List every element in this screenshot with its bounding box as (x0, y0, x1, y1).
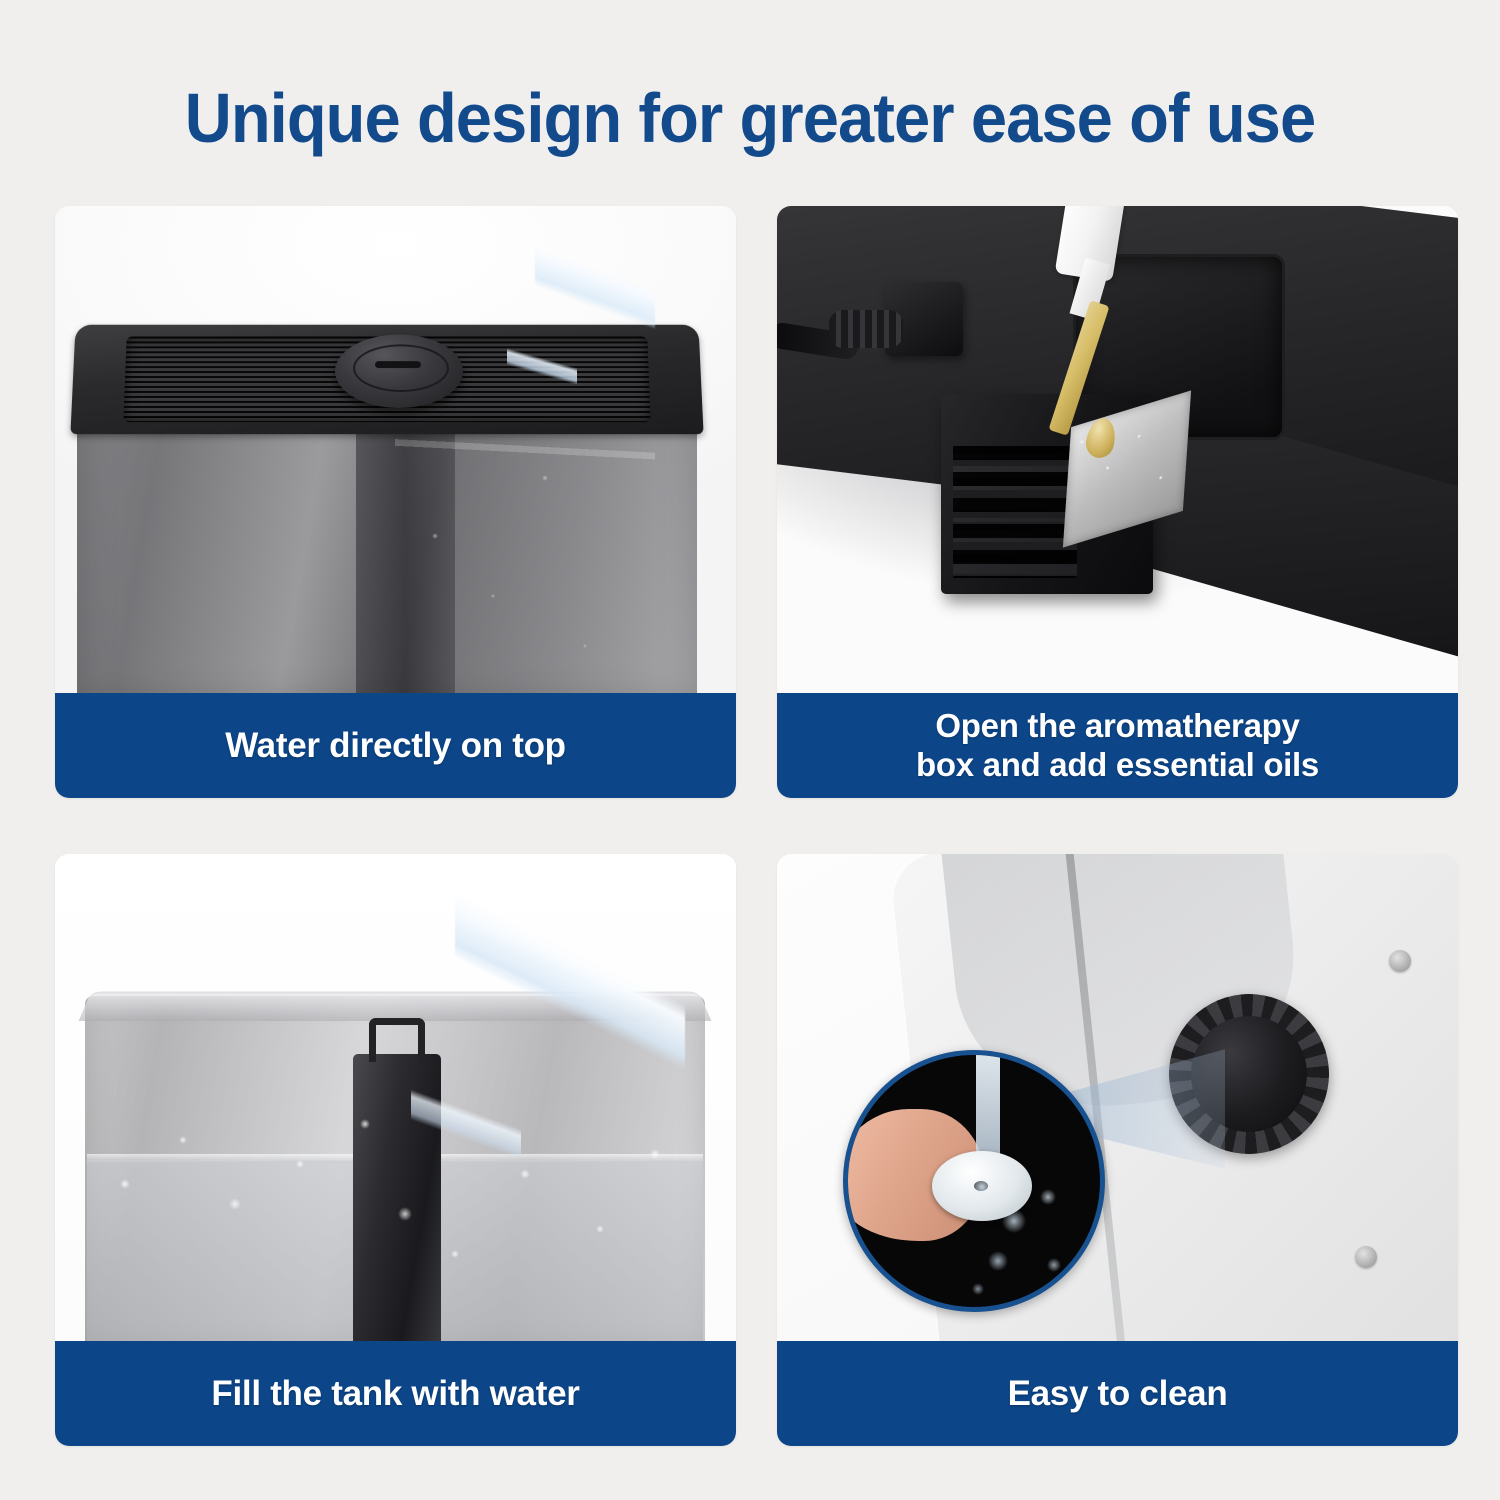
water-splash-decor (958, 1165, 1098, 1305)
photo-fill-tank (55, 854, 736, 1341)
aromatherapy-box-image (941, 394, 1153, 594)
vent-slots-decor (953, 446, 1077, 578)
caption-line-2: box and add essential oils (916, 746, 1319, 785)
screw-head-icon (1355, 1246, 1377, 1268)
water-stream-lower-decor (411, 1050, 521, 1190)
feature-card-water-on-top: Water directly on top (55, 206, 736, 798)
photo-easy-clean (777, 854, 1458, 1341)
feature-card-fill-tank: Fill the tank with water (55, 854, 736, 1446)
inset-closeup-circle (843, 1050, 1105, 1312)
feature-card-easy-clean: Easy to clean (777, 854, 1458, 1446)
caption-line-1: Open the aromatherapy (916, 707, 1319, 746)
caption-easy-clean: Easy to clean (777, 1341, 1458, 1446)
water-stream-lower-decor (507, 326, 577, 406)
caption-aromatherapy: Open the aromatherapy box and add essent… (777, 693, 1458, 798)
feature-card-aromatherapy: Open the aromatherapy box and add essent… (777, 206, 1458, 798)
photo-aromatherapy-box (777, 206, 1458, 693)
caption-fill-tank: Fill the tank with water (55, 1341, 736, 1446)
page-title: Unique design for greater ease of use (53, 78, 1448, 158)
round-cap-knob-icon (335, 335, 464, 408)
screw-head-icon (1389, 950, 1411, 972)
caption-water-on-top: Water directly on top (55, 693, 736, 798)
photo-water-on-top (55, 206, 736, 693)
infographic-page: Unique design for greater ease of use Wa… (0, 0, 1500, 1500)
plug-barrel-decor (829, 310, 903, 348)
